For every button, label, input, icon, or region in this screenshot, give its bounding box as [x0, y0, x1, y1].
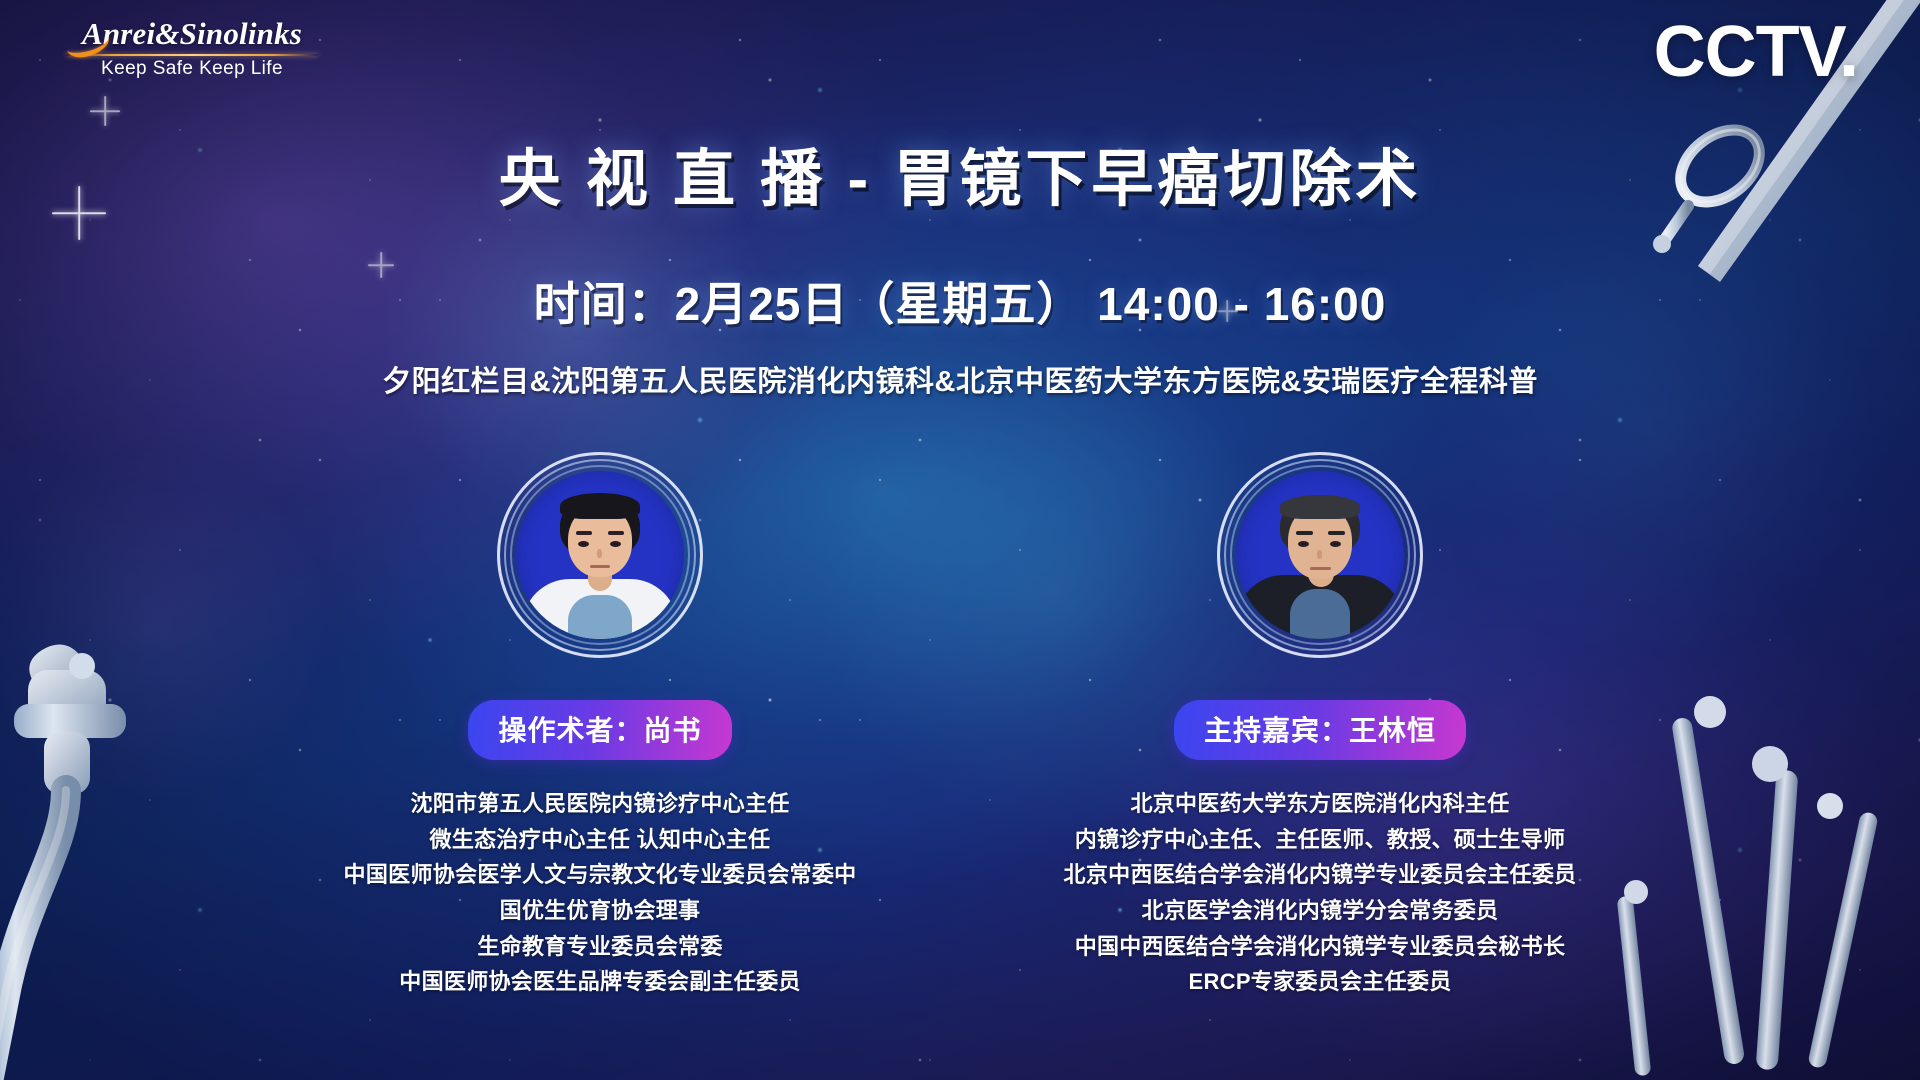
credentials-list: 沈阳市第五人民医院内镜诊疗中心主任 微生态治疗中心主任 认知中心主任 中国医师协… [320, 786, 880, 1000]
credentials-list: 北京中医药大学东方医院消化内科主任 内镜诊疗中心主任、主任医师、教授、硕士生导师… [1040, 786, 1600, 1000]
cctv-channel-logo: CCTV. [1654, 16, 1858, 88]
organizers-line: 夕阳红栏目&沈阳第五人民医院消化内镜科&北京中医药大学东方医院&安瑞医疗全程科普 [0, 358, 1920, 400]
person-card-host: 主持嘉宾：王林恒 北京中医药大学东方医院消化内科主任 内镜诊疗中心主任、主任医师… [1040, 452, 1600, 1000]
credential-item: 国优生优育协会理事 [320, 893, 880, 929]
logo-divider [66, 54, 318, 56]
credential-item: 北京中医药大学东方医院消化内科主任 [1040, 786, 1600, 822]
role-badge: 主持嘉宾：王林恒 [1174, 700, 1466, 760]
portrait-photo [1236, 471, 1404, 639]
person-card-operator: 操作术者：尚书 沈阳市第五人民医院内镜诊疗中心主任 微生态治疗中心主任 认知中心… [320, 452, 880, 1000]
credential-item: 北京医学会消化内镜学分会常务委员 [1040, 893, 1600, 929]
event-time: 时间：2月25日（星期五） 14:00 - 16:00 [0, 268, 1920, 334]
credential-item: 内镜诊疗中心主任、主任医师、教授、硕士生导师 [1040, 822, 1600, 858]
logo-tagline: Keep Safe Keep Life [62, 58, 322, 80]
credential-item: 北京中西医结合学会消化内镜学专业委员会主任委员 [1040, 857, 1600, 893]
credential-item: 生命教育专业委员会常委 [320, 929, 880, 965]
credential-item: 沈阳市第五人民医院内镜诊疗中心主任 [320, 786, 880, 822]
portrait-photo [516, 471, 684, 639]
avatar [1217, 452, 1423, 658]
avatar [497, 452, 703, 658]
credential-item: 中国中西医结合学会消化内镜学专业委员会秘书长 [1040, 929, 1600, 965]
page-title: 央 视 直 播 - 胃镜下早癌切除术 [0, 128, 1920, 218]
credential-item: ERCP专家委员会主任委员 [1040, 964, 1600, 1000]
credential-item: 微生态治疗中心主任 认知中心主任 [320, 822, 880, 858]
role-badge: 操作术者：尚书 [468, 700, 731, 760]
credential-item: 中国医师协会医生品牌专委会副主任委员 [320, 964, 880, 1000]
brand-logo: Anrei&Sinolinks Keep Safe Keep Life [62, 18, 322, 80]
poster-canvas: Anrei&Sinolinks Keep Safe Keep Life CCTV… [0, 0, 1920, 1080]
credential-item: 中国医师协会医学人文与宗教文化专业委员会常委中 [320, 857, 880, 893]
